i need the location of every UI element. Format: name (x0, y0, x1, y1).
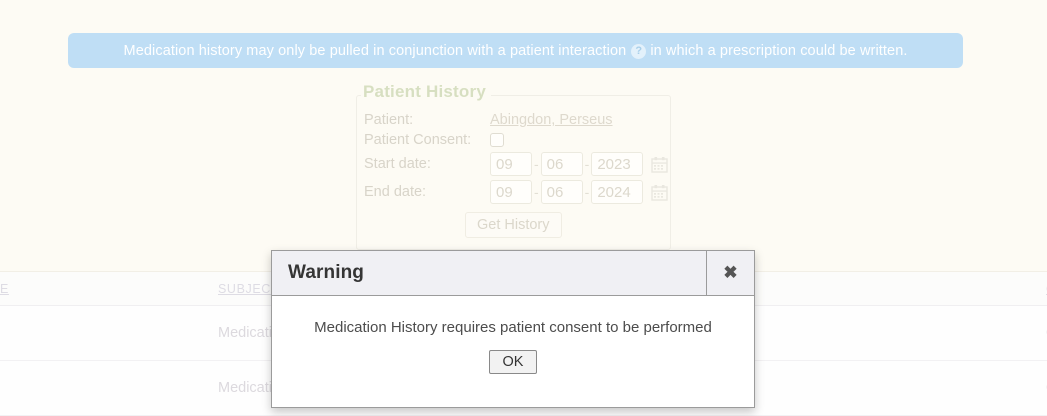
help-circle-icon[interactable]: ? (631, 44, 646, 59)
patient-consent-checkbox[interactable] (490, 133, 504, 147)
patient-history-form: Patient: Abingdon, Perseus Patient Conse… (357, 110, 670, 240)
end-date-day-input[interactable] (541, 180, 583, 204)
patient-consent-cell (490, 130, 670, 150)
cell-options[interactable]: Options (998, 306, 1047, 361)
get-history-button[interactable]: Get History (465, 212, 562, 238)
start-date-separator-1: - (532, 156, 541, 172)
dialog-body: Medication History requires patient cons… (272, 296, 754, 407)
end-date-separator-2: - (583, 184, 592, 200)
dialog-message: Medication History requires patient cons… (292, 319, 734, 336)
end-date-month-input[interactable] (490, 180, 532, 204)
dialog-title: Warning (272, 251, 706, 295)
start-date-month-input[interactable] (490, 152, 532, 176)
start-date-separator-2: - (583, 156, 592, 172)
consent-row: Patient Consent: (357, 130, 670, 150)
warning-dialog: Warning ✖ Medication History requires pa… (271, 250, 755, 408)
submit-row: Get History (357, 206, 670, 240)
submit-cell: Get History (357, 206, 670, 240)
column-header-date-label: E (0, 282, 9, 296)
patient-label: Patient: (357, 110, 490, 130)
patient-row: Patient: Abingdon, Perseus (357, 110, 670, 130)
start-date-cell: - - (490, 150, 670, 178)
column-header-date[interactable]: E (0, 272, 108, 306)
info-banner: Medication history may only be pulled in… (68, 33, 963, 68)
app-page: Medication history may only be pulled in… (0, 0, 1047, 416)
start-date-day-input[interactable] (541, 152, 583, 176)
patient-consent-label: Patient Consent: (357, 130, 490, 150)
close-icon[interactable]: ✖ (706, 251, 754, 295)
start-date-row: Start date: - - (357, 150, 670, 178)
start-date-label: Start date: (357, 150, 490, 178)
info-banner-text-after: in which a prescription could be written… (650, 43, 907, 59)
calendar-icon[interactable] (651, 184, 668, 201)
close-glyph: ✖ (723, 263, 737, 283)
info-banner-text-before: Medication history may only be pulled in… (124, 43, 627, 59)
dialog-header: Warning ✖ (272, 251, 754, 296)
end-date-separator-1: - (532, 184, 541, 200)
cell-date (0, 361, 108, 416)
cell-options[interactable]: Options (998, 361, 1047, 416)
column-header-subject-label: SUBJECT (218, 282, 279, 296)
end-date-label: End date: (357, 178, 490, 206)
ok-button[interactable]: OK (489, 350, 538, 374)
patient-history-legend: Patient History (361, 82, 491, 102)
column-header-options[interactable]: OPTIONS (998, 272, 1047, 306)
patient-value-cell: Abingdon, Perseus (490, 110, 670, 130)
calendar-icon[interactable] (651, 156, 668, 173)
help-glyph: ? (635, 46, 642, 57)
end-date-row: End date: - - (357, 178, 670, 206)
patient-history-fieldset: Patient History Patient: Abingdon, Perse… (356, 95, 671, 250)
patient-name-link[interactable]: Abingdon, Perseus (490, 112, 613, 128)
start-date-year-input[interactable] (591, 152, 643, 176)
end-date-year-input[interactable] (591, 180, 643, 204)
cell-date (0, 306, 108, 361)
top-content-region: Medication history may only be pulled in… (0, 0, 1047, 272)
end-date-cell: - - (490, 178, 670, 206)
